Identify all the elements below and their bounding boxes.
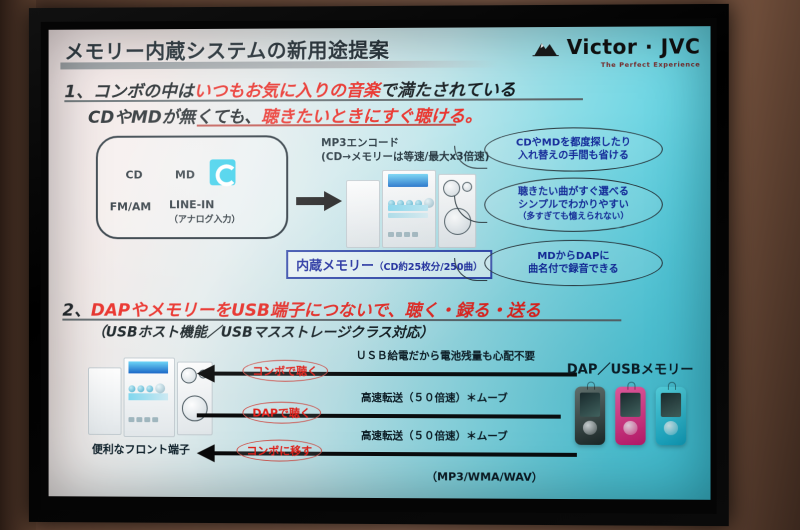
flow-badge-3: コンボに移す [236,439,322,461]
dap-player-pink [615,387,645,445]
button-icon [128,417,134,422]
linein-main: LINE-IN [169,198,214,211]
knob-icon [128,385,135,392]
flow-caption-3: 高速転送（５０倍速）＊ムーブ [361,428,508,444]
source-label-md: MD [175,168,195,181]
speaker-midrange-icon [181,368,197,384]
bubble-1-line-1: CDやMDを都度探したり [516,136,631,149]
flow-arrow-right-icon [296,190,342,216]
volume-knob-icon [155,383,165,393]
bubble-3-line-2: 曲名付で録音できる [528,263,619,276]
source-label-fmam: FM/AM [110,200,151,213]
projection-screen-bezel: メモリー内蔵システムの新用途提案 Victor · JVC The Perfec… [29,4,729,526]
brand-logo: Victor · JVC The Perfect Experience [532,34,700,69]
dap-player-black [575,387,605,445]
dap-player-group [571,381,711,452]
strap-loop-icon [587,382,595,390]
button-icon [404,232,410,237]
bubble-3-line-1: MDからDAPに [528,250,619,263]
slide-canvas: メモリー内蔵システムの新用途提案 Victor · JVC The Perfec… [49,26,711,500]
flow-row-1: コンボで聴く ＵＳＢ給電だから電池残量も心配不要 [197,358,618,389]
strap-loop-icon [627,382,635,390]
page-title: メモリー内蔵システムの新用途提案 [64,34,389,65]
knob-icon [146,385,153,392]
bubble-2-line-2: シンプルでわかりやすい [518,199,629,212]
combo-button-row [128,407,160,426]
combo-tray [128,393,168,400]
speaker-midrange-icon [443,180,460,197]
source-label-cd: CD [126,169,143,182]
button-icon [136,417,142,422]
front-terminal-stereo-illustration [88,357,207,437]
front-terminal-caption: 便利なフロント端子 [92,441,190,457]
projected-slide-photo: メモリー内蔵システムの新用途提案 Victor · JVC The Perfec… [0,0,800,530]
flow-badge-2: DAPで聴く [242,402,320,424]
knob-icon [137,385,144,392]
internal-memory-label: 内蔵メモリー [296,259,374,274]
benefit-bubble-2: 聴きたい曲がすぐ選べる シンプルでわかりやすい （多すぎても憶えられない） [484,177,663,231]
title-underline [60,60,498,69]
dap-player-cyan [656,387,686,446]
format-caption: （MP3/WMA/WAV） [426,468,543,485]
linein-sub: （アナログ入力） [169,212,240,225]
section2-headline: 2、DAPやメモリーをUSB端子につないで、聴く・録る・送る [62,296,541,321]
md-disc-icon [210,159,236,185]
benefit-bubble-1: CDやMDを都度探したり 入れ替えの手間も省ける [484,127,663,172]
bubble-1-line-2: 入れ替えの手間も省ける [516,149,631,162]
logo-text: Victor · JVC [567,34,701,59]
benefit-bubble-3: MDからDAPに 曲名付で録音できる [484,240,663,286]
dap-screen [580,393,600,417]
button-icon [144,417,150,422]
logo-tagline: The Perfect Experience [532,60,700,69]
button-icon [412,232,418,237]
stereo-button-row [388,222,420,241]
dap-control-wheel-icon [664,421,678,435]
dap-usb-caption: DAP／USBメモリー [567,358,694,377]
button-icon [152,417,158,422]
section2-subtitle: （USBホスト機能／USBマスストレージクラス対応） [92,322,434,342]
flow-row-3: コンボに移す 高速転送（５０倍速）＊ムーブ [197,437,618,469]
stereo-display [388,174,428,187]
bubble-2-line-1: 聴きたい曲がすぐ選べる [518,186,629,199]
dap-control-wheel-icon [623,421,637,435]
dap-screen [661,393,681,417]
speaker-tweeter-icon [462,182,472,192]
flow-row-2: DAPで聴く 高速転送（５０倍速）＊ムーブ [197,399,618,430]
source-label-linein: LINE-IN （アナログ入力） [169,198,240,225]
flow-badge-1: コンボで聴く [242,360,328,382]
dap-control-wheel-icon [583,421,597,435]
mountain-logo-icon [532,40,558,60]
button-icon [396,232,402,237]
button-icon [388,232,394,237]
stereo-tray-2 [388,213,428,218]
stereo-tray-1 [388,205,428,211]
dap-screen [620,393,640,417]
bubble-tail-1 [454,146,487,169]
flow-caption-1: ＵＳＢ給電だから電池残量も心配不要 [356,348,535,363]
bubble-2-line-3: （多すぎても憶えられない） [518,212,629,223]
flow-caption-2: 高速転送（５０倍速）＊ムーブ [361,390,508,405]
combo-left-unit [88,367,122,435]
combo-display [128,361,168,373]
strap-loop-icon [668,382,676,390]
stereo-left-unit [346,180,380,248]
